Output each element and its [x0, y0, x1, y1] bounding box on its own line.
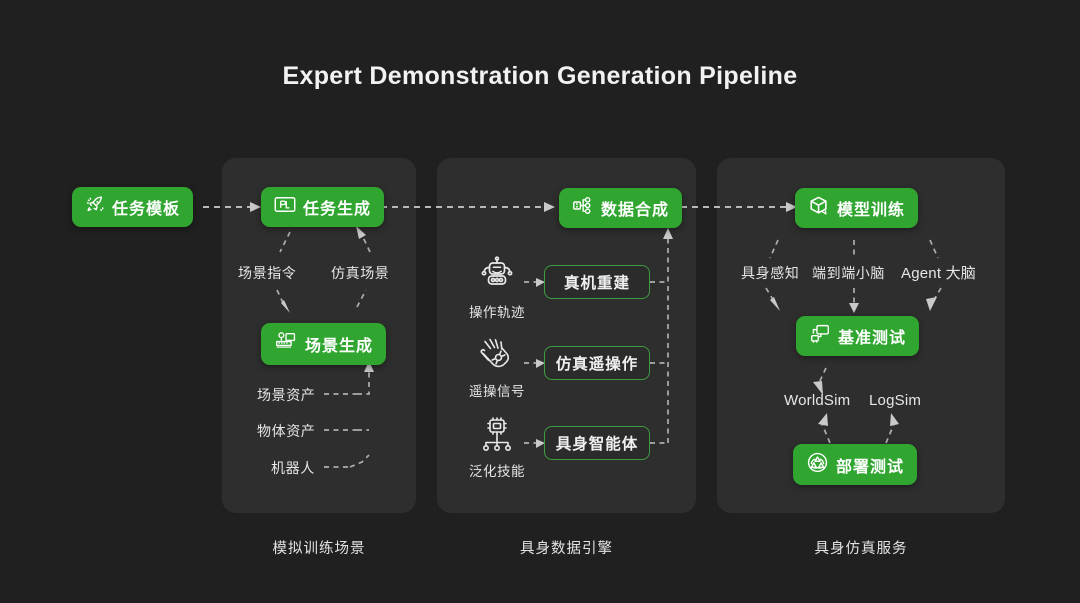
edge-label-agent-brain: Agent 大脑	[901, 262, 976, 283]
source-generalization-skill: 泛化技能	[462, 417, 532, 480]
box-label: 仿真遥操作	[556, 352, 639, 374]
edge-label-simulation-scene: 仿真场景	[331, 263, 389, 283]
node-label: 基准测试	[838, 324, 906, 348]
box-label: 真机重建	[564, 271, 630, 293]
data-nodes-icon	[572, 195, 594, 221]
recycle-circle-icon	[806, 451, 829, 479]
edge-label-worldsim: WorldSim	[784, 392, 850, 409]
node-scene-generation[interactable]: 场景生成	[261, 323, 386, 365]
input-label-robot: 机器人	[271, 458, 315, 478]
node-label: 部署测试	[836, 453, 904, 477]
box-real-machine-reconstruction[interactable]: 真机重建	[544, 265, 650, 299]
glove-icon	[477, 360, 517, 377]
page-title: Expert Demonstration Generation Pipeline	[0, 62, 1080, 91]
source-operation-trajectory: 操作轨迹	[462, 256, 532, 321]
edge-label-end-to-end-cerebellum: 端到端小脑	[812, 263, 885, 283]
node-benchmark-test[interactable]: 基准测试	[796, 316, 919, 356]
edge-label-embodied-perception: 具身感知	[741, 263, 799, 283]
panel-caption-embodied-simulation-service: 具身仿真服务	[717, 537, 1005, 558]
network-chip-icon	[477, 440, 517, 457]
rocket-icon	[85, 195, 105, 220]
node-task-template[interactable]: 任务模板	[72, 187, 193, 227]
panel-caption-simulation-training-scene: 模拟训练场景	[222, 537, 416, 558]
cube-arrow-icon	[808, 195, 830, 222]
task-frame-icon	[274, 195, 296, 219]
box-embodied-agent[interactable]: 具身智能体	[544, 426, 650, 460]
scene-person-icon	[274, 331, 298, 358]
node-model-training[interactable]: 模型训练	[795, 188, 918, 228]
robot-icon	[477, 281, 517, 298]
node-label: 模型训练	[837, 196, 905, 220]
source-caption: 泛化技能	[462, 460, 532, 480]
input-label-object-assets: 物体资产	[257, 421, 315, 441]
source-caption: 遥操信号	[462, 380, 532, 400]
box-simulated-teleoperation[interactable]: 仿真遥操作	[544, 346, 650, 380]
node-deployment-test[interactable]: 部署测试	[793, 444, 917, 485]
node-data-synthesis[interactable]: 数据合成	[559, 188, 682, 228]
input-label-scene-assets: 场景资产	[257, 385, 315, 405]
node-label: 任务模板	[112, 195, 180, 219]
monitor-flow-icon	[809, 323, 831, 349]
box-label: 具身智能体	[556, 432, 639, 454]
edge-label-scene-instruction: 场景指令	[238, 263, 296, 283]
node-label: 场景生成	[305, 332, 373, 356]
node-label: 数据合成	[601, 196, 669, 220]
source-teleop-signal: 遥操信号	[462, 337, 532, 400]
node-task-generation[interactable]: 任务生成	[261, 187, 384, 227]
panel-caption-embodied-data-engine: 具身数据引擎	[437, 537, 696, 558]
edge-label-logsim: LogSim	[869, 392, 921, 409]
node-label: 任务生成	[303, 195, 371, 219]
source-caption: 操作轨迹	[462, 301, 532, 321]
diagram-canvas: Expert Demonstration Generation Pipeline	[0, 0, 1080, 603]
